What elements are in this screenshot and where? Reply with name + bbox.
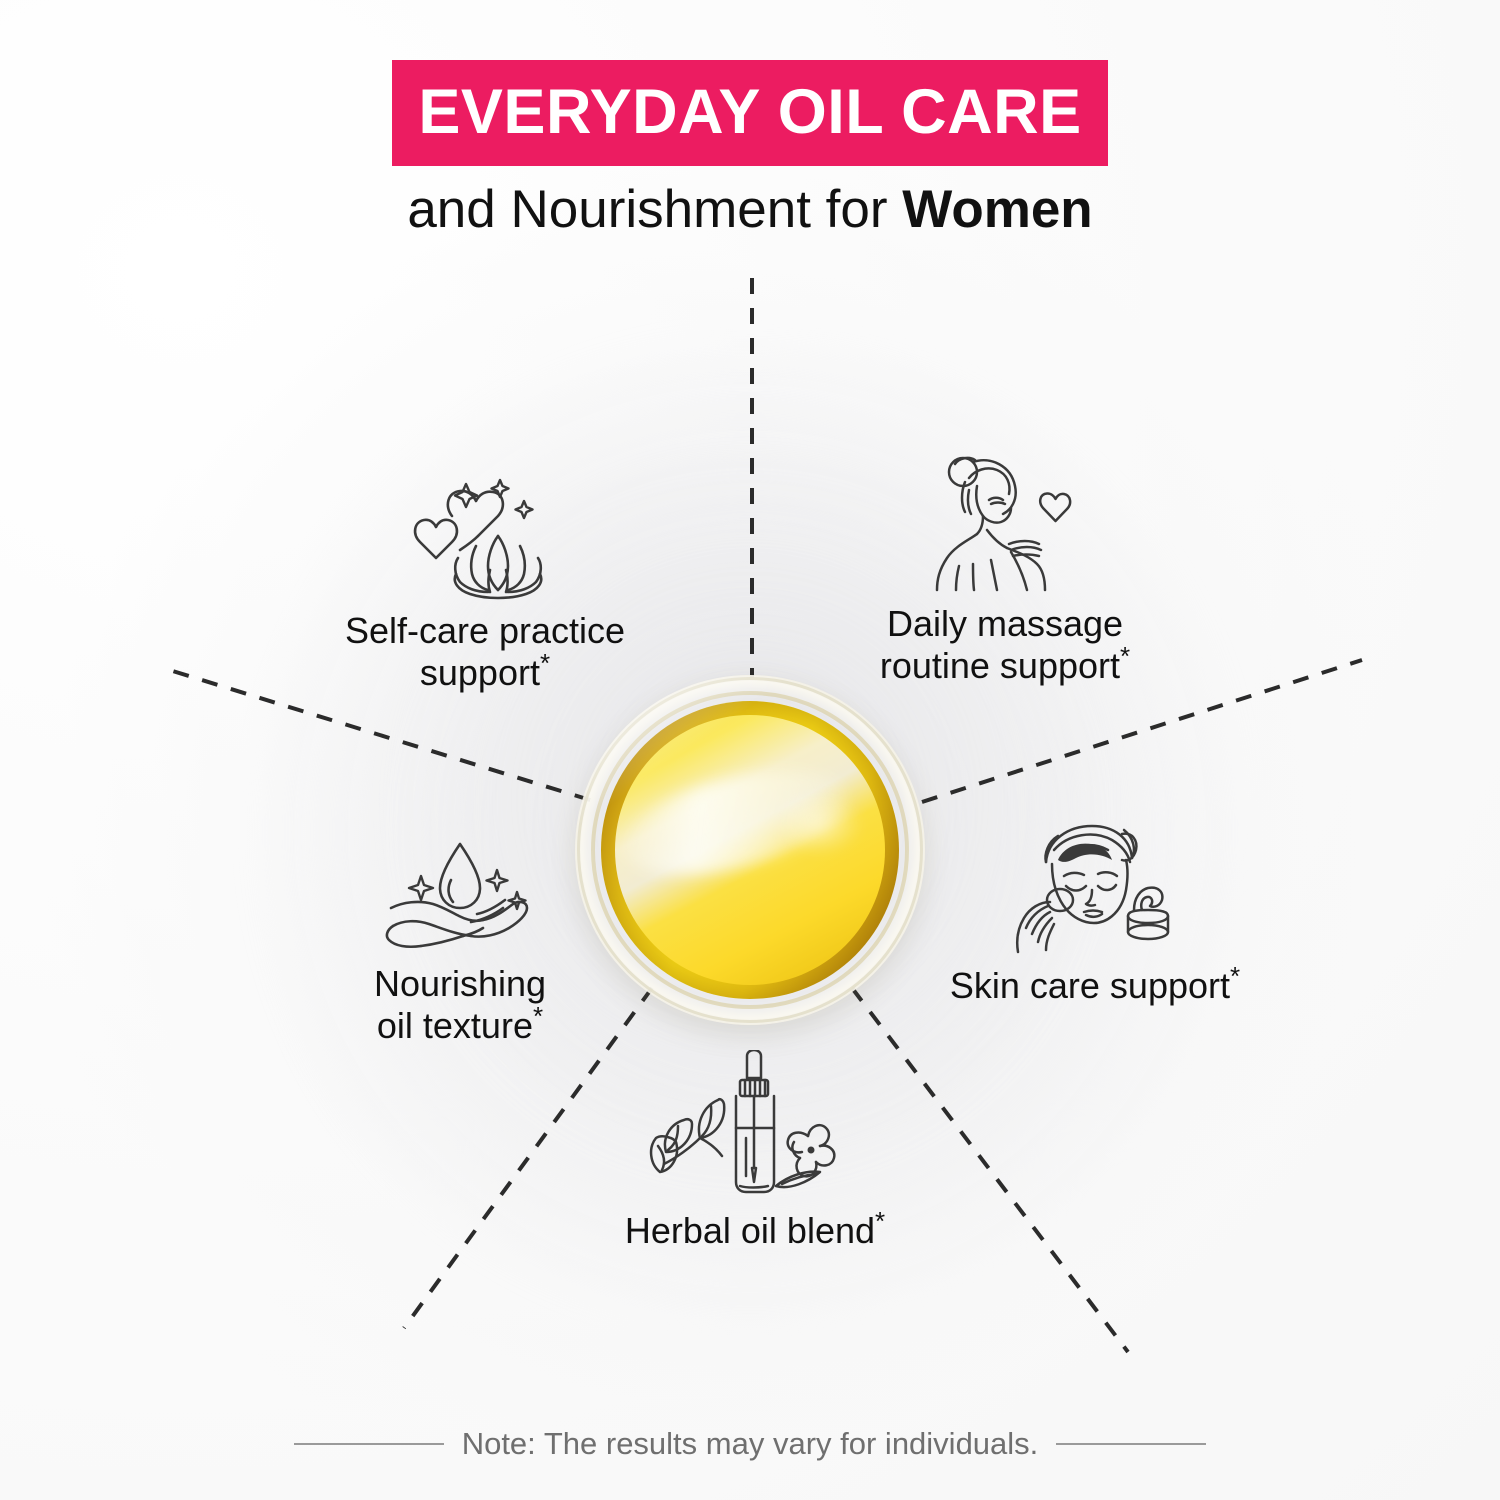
feature-nourish: Nourishing oil texture* — [250, 838, 670, 1048]
footer-rule-right — [1056, 1443, 1206, 1445]
feature-skin-text: Skin care support — [950, 965, 1230, 1006]
feature-massage-asterisk: * — [1120, 641, 1130, 671]
feature-herbal-text: Herbal oil blend — [625, 1210, 875, 1251]
feature-skin-label: Skin care support* — [885, 965, 1305, 1007]
infographic-poster: EVERYDAY OIL CARE and Nourishment for Wo… — [0, 0, 1500, 1500]
footer-note-text: Note: The results may vary for individua… — [462, 1426, 1039, 1462]
feature-massage-label: Daily massage routine support* — [795, 603, 1215, 688]
feature-herbal: Herbal oil blend* — [545, 1050, 965, 1252]
feature-skin: Skin care support* — [885, 820, 1305, 1007]
page-title-band: EVERYDAY OIL CARE — [392, 60, 1107, 166]
page-subtitle: and Nourishment for Women — [0, 180, 1500, 239]
feature-massage-text: Daily massage routine support — [880, 603, 1123, 686]
bowl-oil-specular — [774, 790, 863, 856]
feature-selfcare-asterisk: * — [540, 648, 550, 678]
feature-herbal-label: Herbal oil blend* — [545, 1210, 965, 1252]
feature-massage: Daily massage routine support* — [795, 448, 1215, 688]
woman-applying-cream-jar-icon — [1010, 820, 1180, 955]
feature-selfcare-text: Self-care practice support — [345, 610, 625, 693]
hearts-lotus-sparkle-icon — [400, 470, 570, 600]
footer-note-row: Note: The results may vary for individua… — [0, 1426, 1500, 1462]
feature-skin-asterisk: * — [1230, 961, 1240, 991]
footer-rule-left — [294, 1443, 444, 1445]
feature-selfcare-label: Self-care practice support* — [275, 610, 695, 695]
feature-herbal-asterisk: * — [875, 1206, 885, 1236]
feature-nourish-text: Nourishing oil texture — [374, 963, 546, 1046]
feature-nourish-asterisk: * — [533, 1001, 543, 1031]
hand-oil-droplet-sparkle-icon — [385, 838, 535, 953]
feature-selfcare: Self-care practice support* — [275, 470, 695, 695]
woman-shoulder-massage-heart-icon — [925, 448, 1085, 593]
dropper-bottle-leaves-flower-icon — [648, 1050, 863, 1200]
subtitle-prefix: and Nourishment for — [407, 180, 902, 239]
subtitle-emphasis: Women — [902, 180, 1092, 239]
header: EVERYDAY OIL CARE and Nourishment for Wo… — [0, 60, 1500, 239]
feature-nourish-label: Nourishing oil texture* — [250, 963, 670, 1048]
